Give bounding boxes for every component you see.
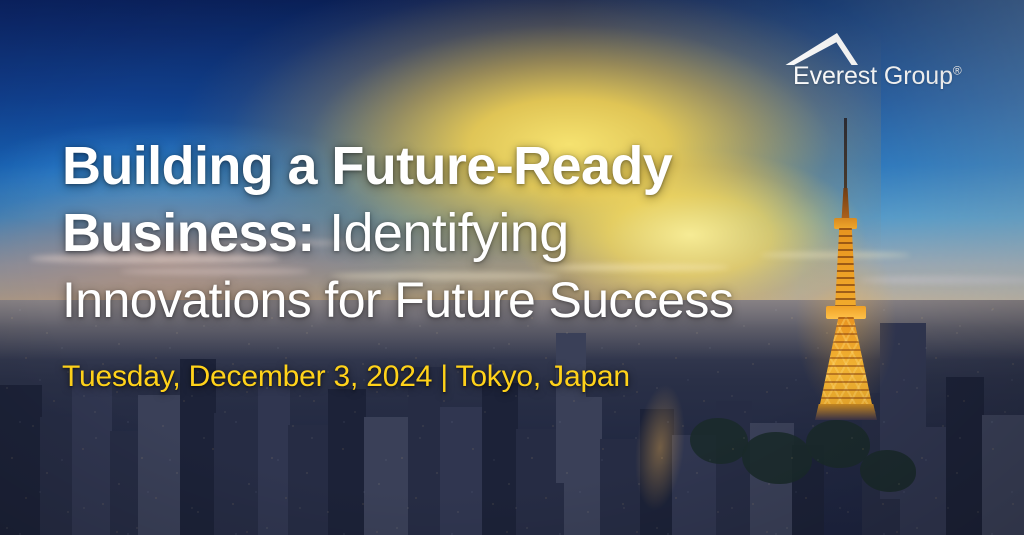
tower-base <box>815 404 877 420</box>
headline-line-3: Innovations for Future Success <box>62 267 733 334</box>
headline-line-2: Business: Identifying <box>62 200 733 267</box>
logo-wordmark-text: Everest Group <box>793 62 953 90</box>
tower-upper-section <box>837 188 854 222</box>
logo-wordmark: Everest Group® <box>793 62 962 91</box>
registered-trademark-icon: ® <box>953 64 962 78</box>
event-promo-banner: Everest Group® Building a Future-Ready B… <box>0 0 1024 535</box>
headline-line-2-light: Identifying <box>329 203 569 263</box>
tower-mid-section <box>829 228 862 310</box>
headline-line-1: Building a Future-Ready <box>62 133 733 200</box>
page-title: Building a Future-Ready Business: Identi… <box>62 133 733 334</box>
tower-lower-lattice <box>819 317 873 409</box>
everest-peak-icon <box>785 32 859 66</box>
headline-line-2-bold: Business: <box>62 203 315 263</box>
tower-top-deck <box>834 218 857 229</box>
tower-antenna-mast <box>844 118 847 192</box>
tokyo-tower <box>815 118 877 418</box>
event-details: Tuesday, December 3, 2024 | Tokyo, Japan <box>62 360 630 394</box>
everest-group-logo[interactable]: Everest Group® <box>781 32 966 88</box>
